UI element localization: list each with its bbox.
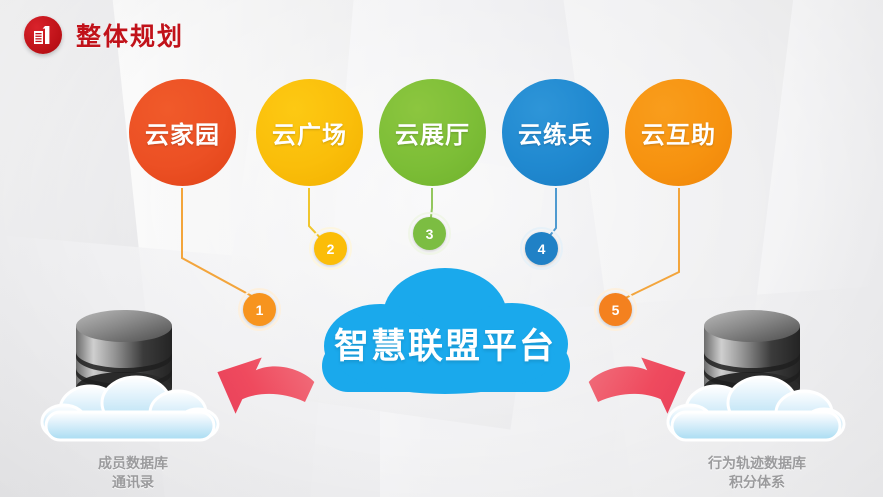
bubble-yunjiayuan[interactable]: 云家园 [129, 79, 236, 186]
step-number: 4 [538, 241, 546, 257]
caption-line-1: 成员数据库 [28, 454, 238, 473]
step-badge-4: 4 [525, 232, 558, 265]
step-number: 1 [256, 302, 264, 318]
caption-line-2: 积分体系 [652, 473, 862, 492]
step-number: 5 [612, 302, 620, 318]
caption-line-2: 通讯录 [28, 473, 238, 492]
step-badge-1: 1 [243, 293, 276, 326]
bubble-yunhuzhu[interactable]: 云互助 [625, 79, 732, 186]
page-title: 整体规划 [76, 17, 184, 53]
building-badge-icon [24, 16, 62, 54]
database-left-caption: 成员数据库 通讯录 [28, 454, 238, 492]
bubble-label: 云互助 [641, 115, 716, 150]
curved-arrow-right-icon [588, 352, 698, 447]
bubble-yunzhanting[interactable]: 云展厅 [379, 79, 486, 186]
bubble-yunguangchang[interactable]: 云广场 [256, 79, 363, 186]
curved-arrow-left-icon [205, 352, 315, 447]
bubble-label: 云广场 [272, 115, 347, 150]
step-badge-5: 5 [599, 293, 632, 326]
step-badge-2: 2 [314, 232, 347, 265]
bubble-yunlianbing[interactable]: 云练兵 [502, 79, 609, 186]
database-right-caption: 行为轨迹数据库 积分体系 [652, 454, 862, 492]
slide-canvas: 整体规划 云家园 云广场 云展厅 云练兵 云互助 1 2 3 4 [0, 0, 883, 497]
step-badge-3: 3 [413, 217, 446, 250]
step-number: 2 [327, 241, 335, 257]
bubble-label: 云展厅 [395, 115, 470, 150]
slide-header: 整体规划 [24, 16, 184, 54]
bubble-label: 云练兵 [518, 115, 593, 150]
caption-line-1: 行为轨迹数据库 [652, 454, 862, 473]
bubble-label: 云家园 [145, 115, 220, 150]
step-number: 3 [426, 226, 434, 242]
platform-title: 智慧联盟平台 [300, 318, 590, 369]
